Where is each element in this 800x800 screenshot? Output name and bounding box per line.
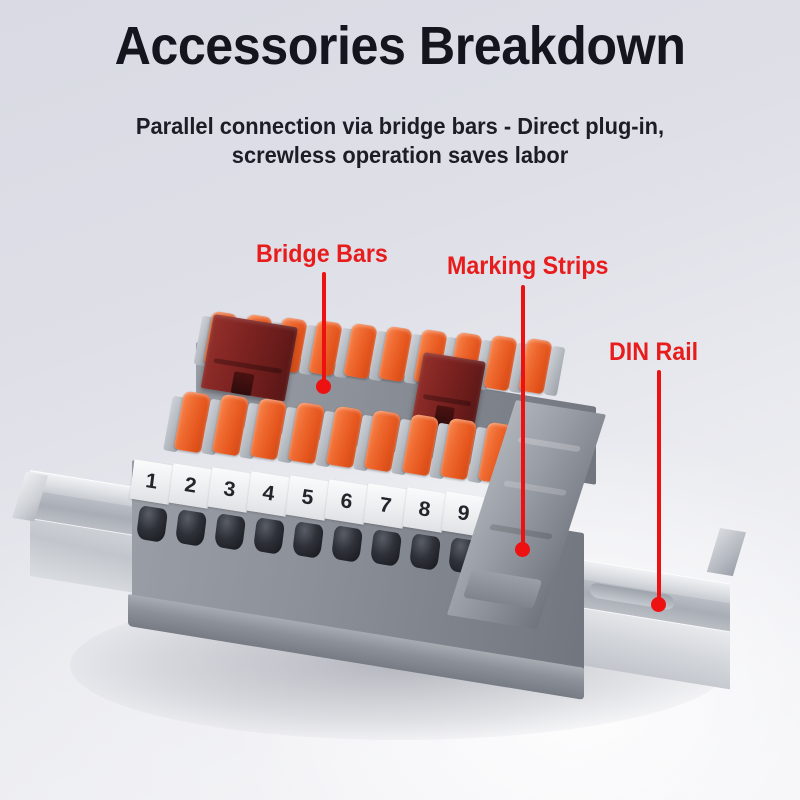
wire-entry-hole <box>253 517 285 555</box>
leader-line-din-rail <box>657 370 661 604</box>
product-illustration: 1 2 3 4 5 6 7 8 9 10 <box>0 0 800 800</box>
wire-entry-hole <box>175 509 207 547</box>
leader-dot-din-rail <box>651 597 666 612</box>
marking-strip[interactable]: 7 <box>364 483 408 529</box>
end-plate-groove <box>503 480 567 496</box>
wire-entry-hole <box>409 533 441 571</box>
leader-line-bridge-bars <box>322 272 326 386</box>
marking-strip[interactable]: 6 <box>325 479 369 525</box>
wire-entry-hole <box>331 525 363 563</box>
callout-label-din-rail: DIN Rail <box>609 338 698 367</box>
callout-label-bridge-bars: Bridge Bars <box>256 240 388 269</box>
wire-entry-hole <box>292 521 324 559</box>
leader-line-marking-strips <box>521 285 525 549</box>
end-plate-rail-clip <box>463 569 542 609</box>
marking-strip[interactable]: 5 <box>286 475 330 521</box>
leader-dot-marking-strips <box>515 542 530 557</box>
marking-strip[interactable]: 3 <box>208 467 252 513</box>
marking-strip[interactable]: 4 <box>247 471 291 517</box>
marking-strip[interactable]: 2 <box>169 463 213 509</box>
wire-entry-hole <box>136 505 168 543</box>
wire-entry-hole <box>214 513 246 551</box>
end-plate-groove <box>517 436 581 452</box>
wire-entry-hole <box>370 529 402 567</box>
marking-strip[interactable]: 8 <box>403 487 447 533</box>
infographic-canvas: Accessories Breakdown Parallel connectio… <box>0 0 800 800</box>
leader-dot-bridge-bars <box>316 379 331 394</box>
callout-label-marking-strips: Marking Strips <box>447 252 609 281</box>
din-rail-right-end <box>707 528 746 576</box>
bridge-bar-face-notch <box>213 358 282 374</box>
marking-strip[interactable]: 1 <box>130 459 174 505</box>
